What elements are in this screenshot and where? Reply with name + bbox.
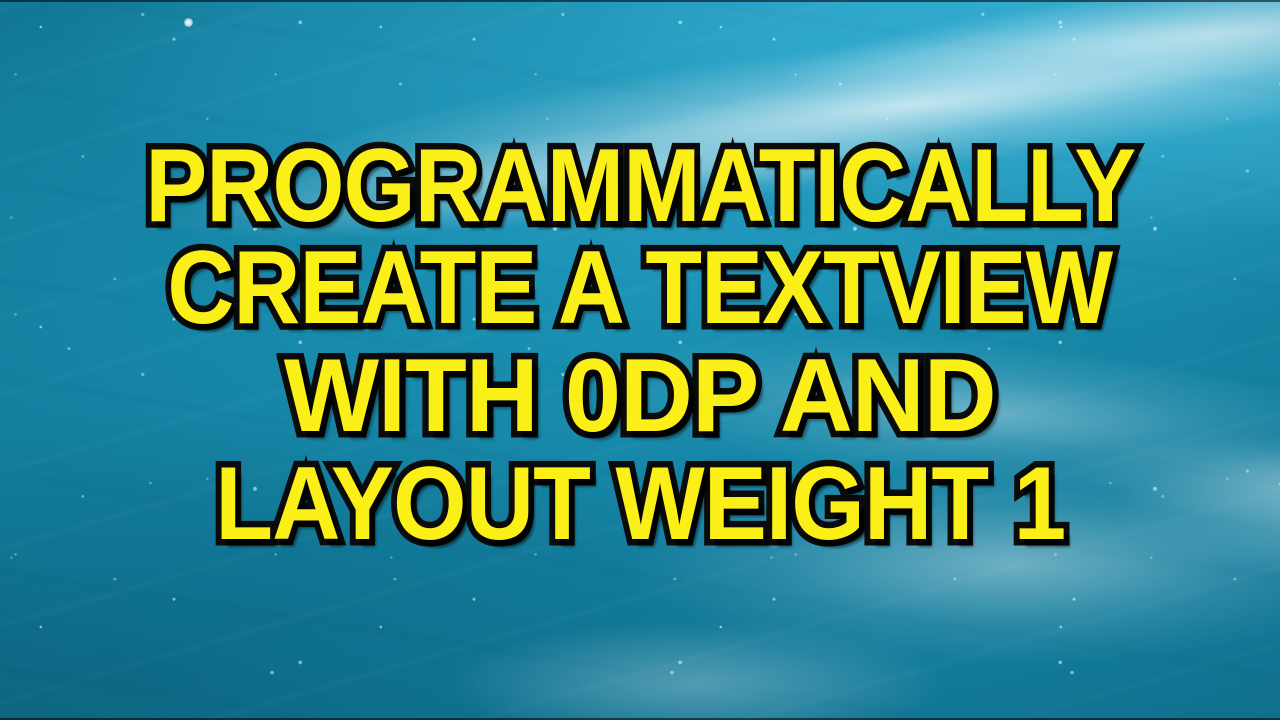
thumbnail-canvas: PROGRAMMATICALLY CREATE A TEXTVIEW WITH … (0, 0, 1280, 720)
frame-edge-top (0, 0, 1280, 2)
vignette-overlay (0, 0, 1280, 720)
